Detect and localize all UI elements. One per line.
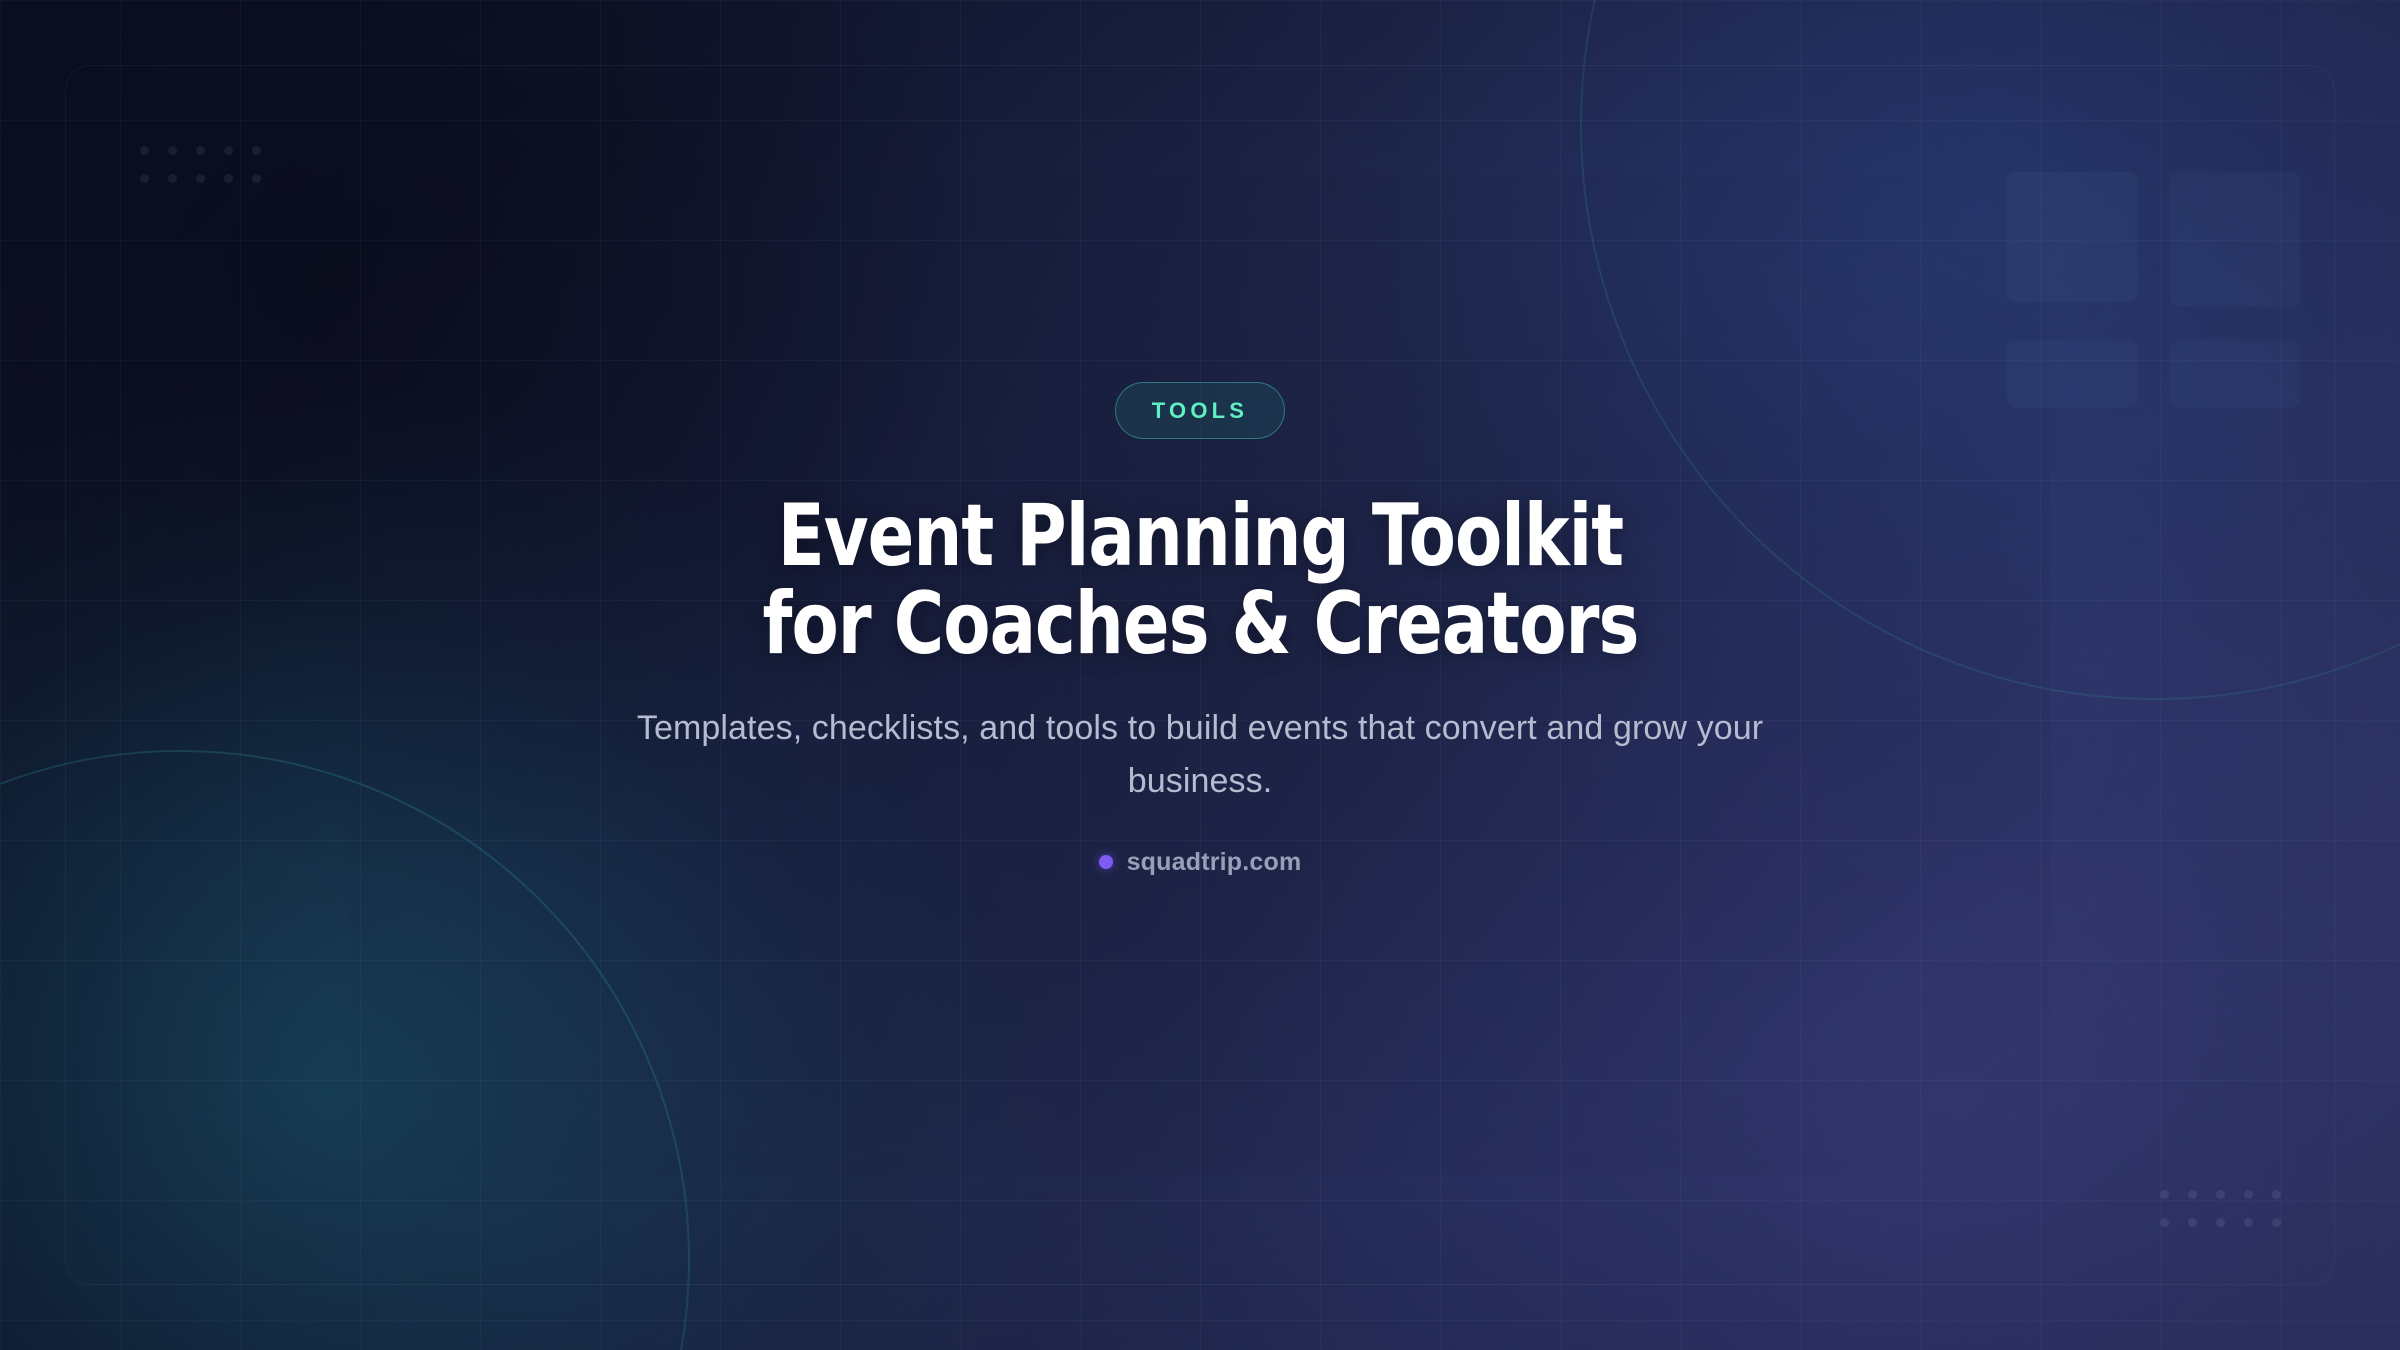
dot-grid-top-left bbox=[130, 136, 270, 192]
page-title: Event Planning Toolkit for Coaches & Cre… bbox=[762, 493, 1638, 668]
category-badge: TOOLS bbox=[1115, 382, 1285, 439]
page-subtitle: Templates, checklists, and tools to buil… bbox=[560, 702, 1840, 807]
grid-dot bbox=[252, 146, 261, 155]
grid-dot bbox=[2244, 1218, 2253, 1227]
grid-dot bbox=[2272, 1218, 2281, 1227]
presentation-slide: TOOLS Event Planning Toolkit for Coaches… bbox=[0, 0, 2400, 1350]
grid-dot bbox=[2272, 1190, 2281, 1199]
decorative-card-mock-b bbox=[2170, 172, 2300, 307]
grid-dot bbox=[252, 174, 261, 183]
bullet-dot-icon bbox=[1099, 855, 1113, 869]
hero-content: TOOLS Event Planning Toolkit for Coaches… bbox=[0, 382, 2400, 877]
grid-dot bbox=[2188, 1190, 2197, 1199]
grid-dot bbox=[2160, 1190, 2169, 1199]
grid-dot bbox=[196, 146, 205, 155]
grid-dot bbox=[168, 174, 177, 183]
grid-dot bbox=[2216, 1190, 2225, 1199]
page-title-line-2: for Coaches & Creators bbox=[762, 581, 1638, 669]
grid-dot bbox=[140, 174, 149, 183]
grid-dot bbox=[2160, 1218, 2169, 1227]
grid-dot bbox=[224, 174, 233, 183]
dot-grid-bottom-right bbox=[2150, 1180, 2290, 1236]
grid-dot bbox=[2188, 1218, 2197, 1227]
grid-dot bbox=[224, 146, 233, 155]
grid-dot bbox=[2216, 1218, 2225, 1227]
page-title-line-1: Event Planning Toolkit bbox=[762, 493, 1638, 581]
grid-dot bbox=[2244, 1190, 2253, 1199]
grid-dot bbox=[196, 174, 205, 183]
brand-footer: squadtrip.com bbox=[1099, 848, 1302, 877]
grid-dot bbox=[140, 146, 149, 155]
brand-name-label: squadtrip.com bbox=[1127, 848, 1302, 877]
grid-dot bbox=[168, 146, 177, 155]
decorative-card-mock-a bbox=[2006, 172, 2138, 302]
